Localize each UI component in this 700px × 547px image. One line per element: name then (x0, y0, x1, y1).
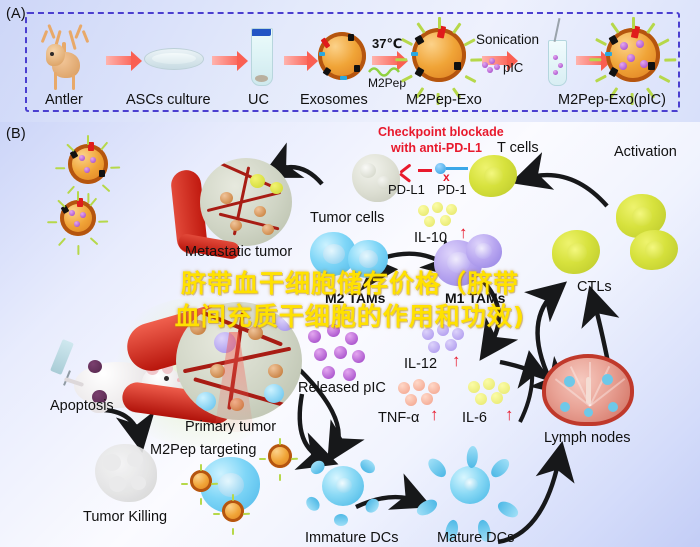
label-il-10: IL-10 (414, 230, 447, 246)
panel-a-label-uc: UC (248, 92, 269, 108)
label-tnf-alpha: TNF-α (378, 410, 419, 426)
targeting-exosome-2 (190, 470, 212, 492)
tnf-alpha-trend-arrow: ↑ (430, 406, 439, 423)
panel-a-annotation-pic: pIC (503, 60, 523, 75)
label-t-cells: T cells (497, 140, 539, 156)
label-checkpoint-blockade-line1: Checkpoint blockade (378, 125, 504, 139)
il-12-trend-arrow: ↑ (452, 352, 461, 369)
immature-dc-illustration (308, 454, 378, 518)
label-m2-tams: M2 TAMs (325, 290, 385, 306)
label-m1-tams: M1 TAMs (445, 290, 505, 306)
cell-culture-dish-icon (144, 48, 204, 70)
label-primary-tumor: Primary tumor (185, 419, 276, 435)
panel-a-arrow-3 (284, 56, 308, 65)
label-tumor-killing: Tumor Killing (83, 509, 167, 525)
panel-a-annotation-sonication: Sonication (476, 32, 539, 47)
pd-l1-receptor-icon (396, 160, 424, 184)
panel-a-label-exosomes: Exosomes (300, 92, 368, 108)
il-6-trend-arrow: ↑ (505, 406, 514, 423)
panel-a: (A) Antler ASCs culture (0, 0, 700, 122)
label-il-6: IL-6 (462, 410, 487, 426)
panel-a-label-ascs-culture: ASCs culture (126, 92, 211, 108)
m2pep-exosome-particle (412, 28, 466, 82)
mature-dc-illustration (432, 450, 508, 520)
targeting-exosome-3 (222, 500, 244, 522)
label-activation: Activation (614, 144, 677, 160)
panel-b: (B) (0, 122, 700, 547)
label-metastatic-tumor: Metastatic tumor (185, 244, 292, 260)
label-tumor-cells: Tumor cells (310, 210, 384, 226)
primary-tumor-illustration (130, 292, 330, 427)
syringe-icon (50, 339, 74, 375)
panel-a-tag: (A) (6, 6, 26, 22)
label-apoptosis: Apoptosis (50, 398, 114, 414)
m2pep-exo-pic-particle (606, 28, 660, 82)
label-mature-dcs: Mature DCs (437, 530, 514, 546)
label-m2pep-targeting: M2Pep targeting (150, 442, 256, 458)
apoptotic-cell-illustration (95, 444, 157, 502)
lymph-node-illustration (542, 354, 634, 426)
panel-a-annotation-m2pep: M2Pep (368, 76, 406, 90)
label-checkpoint-blockade-line2: with anti-PD-L1 (391, 141, 482, 155)
label-pd-1: PD-1 (437, 182, 467, 197)
label-lymph-nodes: Lymph nodes (544, 430, 631, 446)
label-released-pic: Released pIC (298, 380, 386, 396)
panel-a-label-m2pep-exo: M2Pep-Exo (406, 92, 482, 108)
panel-a-arrow-1 (106, 56, 132, 65)
label-pd-l1: PD-L1 (388, 182, 425, 197)
label-ctls: CTLs (577, 279, 612, 295)
figure-root: (A) Antler ASCs culture (0, 0, 700, 547)
panel-a-arrow-2 (212, 56, 238, 65)
targeting-exosome-1 (268, 444, 292, 468)
panel-a-annotation-temperature: 37℃ (372, 36, 402, 52)
centrifuge-tube-icon (251, 28, 273, 86)
exosome-particle (318, 32, 366, 80)
m1-tam-cell-2 (466, 234, 502, 268)
panel-a-label-antler: Antler (45, 92, 83, 108)
injected-exosome-1 (68, 144, 108, 184)
sonication-tube-icon (548, 40, 567, 86)
label-il-12: IL-12 (404, 356, 437, 372)
panel-a-label-m2pep-exo-pic: M2Pep-Exo(pIC) (558, 92, 666, 108)
m2-tam-cell-2 (348, 240, 388, 278)
injected-exosome-2 (60, 200, 96, 236)
label-immature-dcs: Immature DCs (305, 530, 398, 546)
